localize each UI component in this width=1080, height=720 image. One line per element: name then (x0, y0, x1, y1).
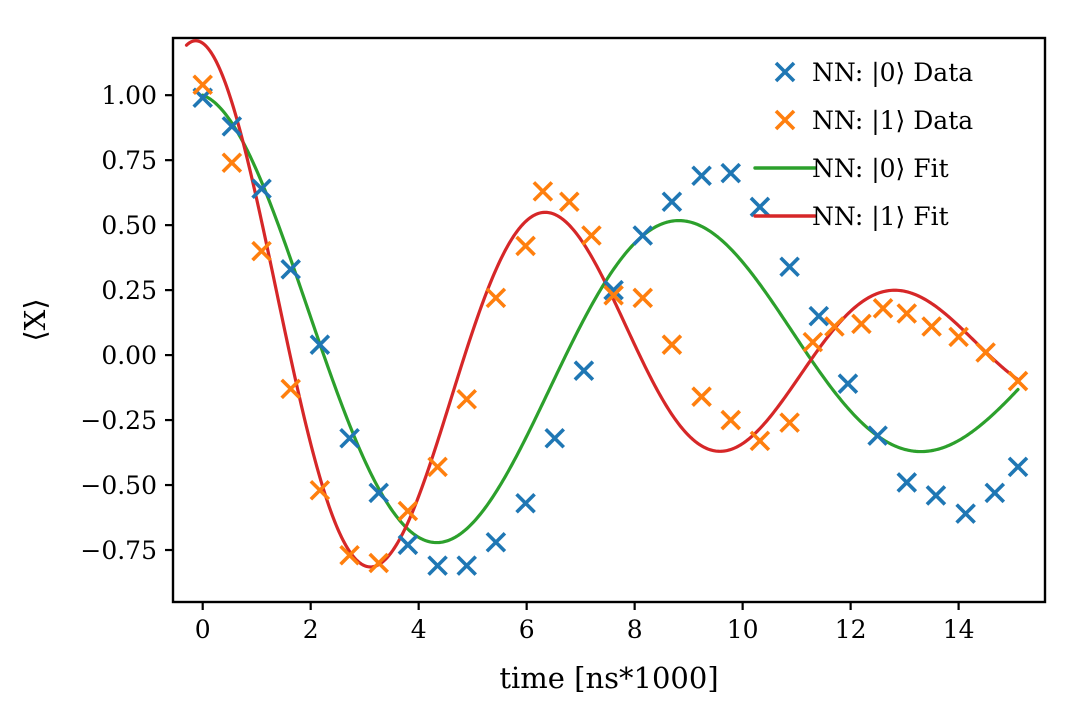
x-tick-label: 10 (727, 615, 759, 644)
legend-label: NN: |1⟩ Data (812, 106, 973, 136)
y-tick-label: −0.25 (80, 406, 157, 435)
y-axis-label: ⟨X⟩ (18, 298, 52, 341)
y-tick-label: 1.00 (101, 81, 157, 110)
x-tick-label: 12 (835, 615, 867, 644)
y-tick-label: −0.75 (80, 536, 157, 565)
y-tick-label: 0.75 (101, 146, 157, 175)
x-tick-label: 8 (627, 615, 643, 644)
legend-label: NN: |0⟩ Data (812, 58, 973, 88)
x-tick-label: 2 (303, 615, 319, 644)
legend-label: NN: |0⟩ Fit (812, 154, 949, 184)
x-tick-label: 4 (411, 615, 427, 644)
figure-canvas: 02468101214 1.000.750.500.250.00−0.25−0.… (0, 0, 1080, 720)
y-tick-label: 0.25 (101, 276, 157, 305)
x-axis-label: time [ns*1000] (499, 661, 718, 695)
x-tick-label: 0 (195, 615, 211, 644)
legend-label: NN: |1⟩ Fit (812, 202, 949, 232)
y-tick-label: 0.00 (101, 341, 157, 370)
x-tick-label: 14 (943, 615, 975, 644)
y-tick-label: −0.50 (80, 471, 157, 500)
y-tick-label: 0.50 (101, 211, 157, 240)
plot-area: 02468101214 1.000.750.500.250.00−0.25−0.… (0, 0, 1080, 720)
x-tick-label: 6 (519, 615, 535, 644)
